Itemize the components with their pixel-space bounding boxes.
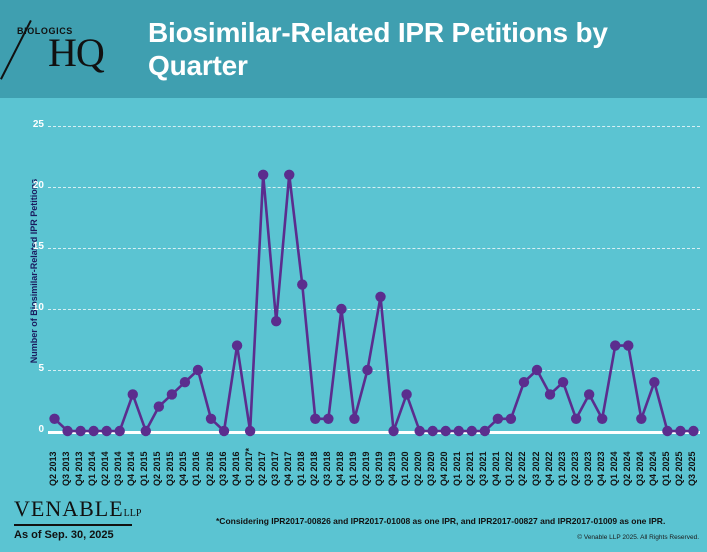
logo-hq-text: HQ <box>48 33 104 73</box>
x-tick-label: Q2 2018 <box>309 422 319 486</box>
copyright-notice: © Venable LLP 2025. All Rights Reserved. <box>577 534 699 541</box>
x-tick-label: Q4 2019 <box>387 422 397 486</box>
data-point <box>584 389 594 399</box>
x-tick-label: Q2 2016 <box>205 422 215 486</box>
x-tick-label: Q3 2023 <box>583 422 593 486</box>
x-tick-label: Q3 2018 <box>322 422 332 486</box>
x-tick-label: Q4 2014 <box>126 422 136 486</box>
data-point <box>232 340 242 350</box>
data-point <box>532 365 542 375</box>
data-point <box>193 365 203 375</box>
x-tick-label: Q1 2019 <box>348 422 358 486</box>
page-footer: VENABLELLP As of Sep. 30, 2025 *Consider… <box>0 488 707 552</box>
series-line <box>55 175 694 431</box>
bottom-strip <box>0 545 707 552</box>
x-tick-label: Q1 2020 <box>400 422 410 486</box>
x-tick-label: Q2 2015 <box>152 422 162 486</box>
x-tick-label: Q2 2020 <box>413 422 423 486</box>
x-tick-label: Q4 2022 <box>544 422 554 486</box>
x-tick-label: Q1 2022 <box>504 422 514 486</box>
data-point <box>297 279 307 289</box>
data-point <box>558 377 568 387</box>
x-tick-label: Q3 2020 <box>426 422 436 486</box>
x-tick-label: Q3 2025 <box>687 422 697 486</box>
page-title: Biosimilar-Related IPR Petitions by Quar… <box>148 16 668 82</box>
chart-footnote: *Considering IPR2017-00826 and IPR2017-0… <box>216 516 696 526</box>
x-tick-label: Q3 2015 <box>165 422 175 486</box>
x-tick-label: Q2 2022 <box>517 422 527 486</box>
x-tick-label: Q3 2019 <box>374 422 384 486</box>
x-tick-label: Q1 2017* <box>244 422 254 486</box>
x-tick-label: Q4 2013 <box>74 422 84 486</box>
x-tick-label: Q3 2014 <box>113 422 123 486</box>
x-tick-label: Q1 2021 <box>452 422 462 486</box>
data-point <box>271 316 281 326</box>
x-tick-label: Q1 2023 <box>557 422 567 486</box>
data-point <box>284 170 294 180</box>
data-point <box>258 170 268 180</box>
data-point <box>375 292 385 302</box>
x-tick-label: Q3 2022 <box>531 422 541 486</box>
chart-plot-area: Number of Biosimilar-Related IPR Petitio… <box>0 98 707 488</box>
x-tick-label: Q2 2024 <box>622 422 632 486</box>
x-tick-label: Q2 2021 <box>465 422 475 486</box>
x-tick-label: Q2 2025 <box>674 422 684 486</box>
x-tick-label: Q4 2017 <box>283 422 293 486</box>
data-point <box>401 389 411 399</box>
x-tick-label: Q4 2018 <box>335 422 345 486</box>
x-tick-label: Q3 2013 <box>61 422 71 486</box>
x-tick-label: Q3 2024 <box>635 422 645 486</box>
data-point <box>623 340 633 350</box>
data-point <box>167 389 177 399</box>
data-point <box>128 389 138 399</box>
x-tick-label: Q4 2016 <box>231 422 241 486</box>
x-tick-label: Q2 2017 <box>257 422 267 486</box>
x-tick-label: Q1 2014 <box>87 422 97 486</box>
data-point <box>336 304 346 314</box>
as-of-date: As of Sep. 30, 2025 <box>14 529 114 541</box>
data-point <box>154 401 164 411</box>
data-point <box>180 377 190 387</box>
data-point <box>649 377 659 387</box>
x-tick-label: Q2 2013 <box>48 422 58 486</box>
x-tick-label: Q4 2015 <box>178 422 188 486</box>
x-tick-label: Q2 2023 <box>570 422 580 486</box>
x-tick-label: Q4 2020 <box>439 422 449 486</box>
data-point <box>519 377 529 387</box>
x-tick-label: Q4 2024 <box>648 422 658 486</box>
x-tick-label: Q2 2014 <box>100 422 110 486</box>
data-point <box>610 340 620 350</box>
venable-suffix: LLP <box>124 508 142 519</box>
venable-name: VENABLE <box>14 496 124 521</box>
x-tick-label: Q1 2018 <box>296 422 306 486</box>
x-tick-label: Q3 2021 <box>478 422 488 486</box>
x-tick-label: Q3 2017 <box>270 422 280 486</box>
x-tick-label: Q4 2021 <box>491 422 501 486</box>
x-tick-label: Q2 2019 <box>361 422 371 486</box>
x-tick-label: Q4 2023 <box>596 422 606 486</box>
data-point <box>545 389 555 399</box>
venable-logo: VENABLELLP <box>14 496 141 522</box>
chart-page: BIOLOGICS HQ Biosimilar-Related IPR Peti… <box>0 0 707 552</box>
x-tick-label: Q3 2016 <box>218 422 228 486</box>
biologicshq-logo: BIOLOGICS HQ <box>14 18 132 80</box>
footer-divider <box>14 524 132 526</box>
x-tick-label: Q1 2015 <box>139 422 149 486</box>
data-point <box>362 365 372 375</box>
x-tick-label: Q1 2025 <box>661 422 671 486</box>
x-tick-label: Q1 2024 <box>609 422 619 486</box>
x-tick-label: Q1 2016 <box>191 422 201 486</box>
page-header: BIOLOGICS HQ Biosimilar-Related IPR Peti… <box>0 0 707 98</box>
series-markers <box>49 170 698 437</box>
